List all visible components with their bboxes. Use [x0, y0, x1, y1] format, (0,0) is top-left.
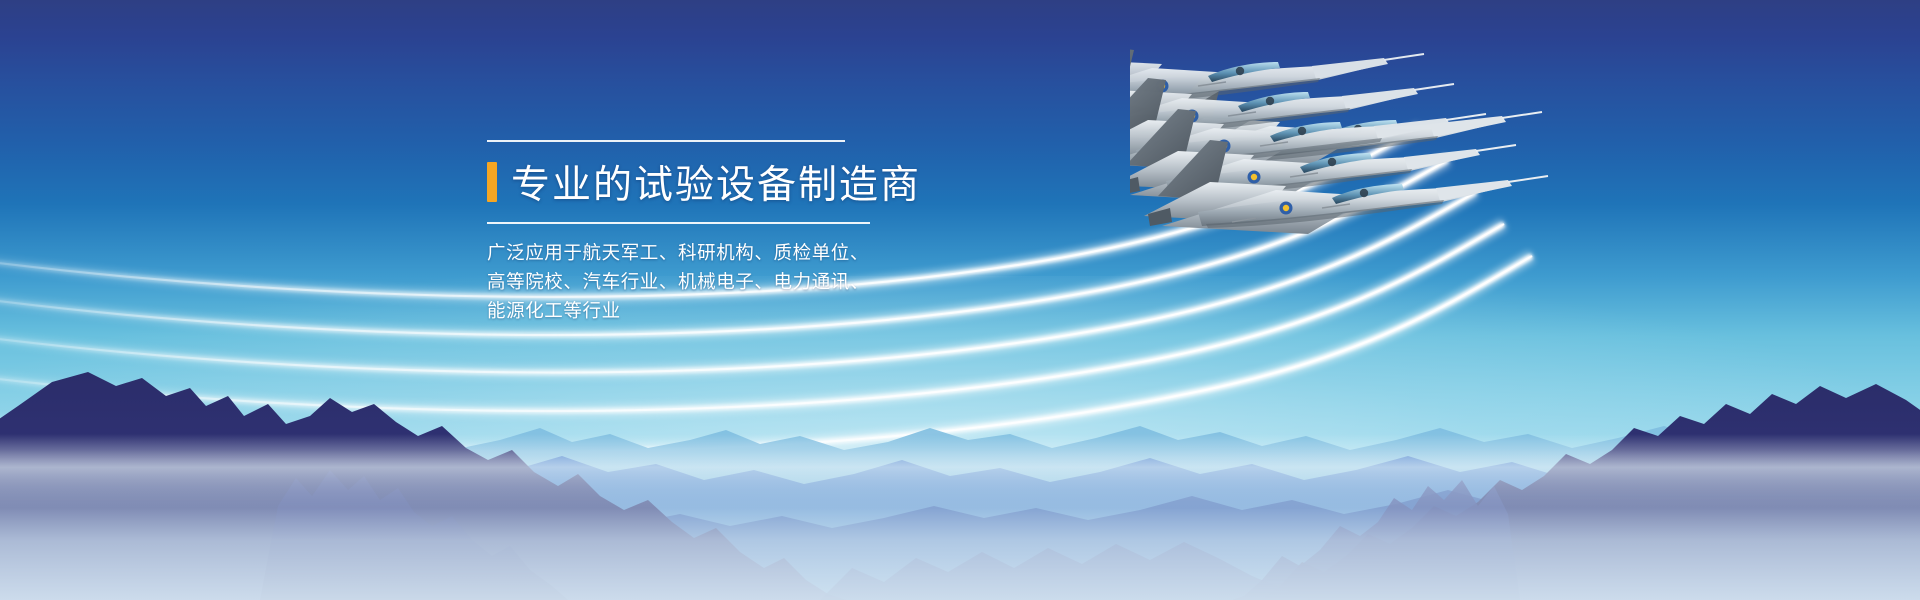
page-title: 专业的试验设备制造商 [511, 154, 921, 210]
title-row: 专业的试验设备制造商 [487, 152, 1107, 212]
subtitle-line-3: 能源化工等行业 [487, 296, 1107, 325]
fighter-jet-formation-icon [1130, 40, 1920, 290]
subtitle-line-1: 广泛应用于航天军工、科研机构、质检单位、 [487, 238, 1107, 267]
mountain-range-silhouette [0, 300, 1920, 600]
accent-bar-icon [487, 162, 497, 202]
hero-copy-block: 专业的试验设备制造商 广泛应用于航天军工、科研机构、质检单位、 高等院校、汽车行… [487, 140, 1107, 325]
title-rule-top [487, 140, 845, 142]
subtitle-line-2: 高等院校、汽车行业、机械电子、电力通讯、 [487, 267, 1107, 296]
title-rule-bottom [487, 222, 870, 224]
hero-banner: 专业的试验设备制造商 广泛应用于航天军工、科研机构、质检单位、 高等院校、汽车行… [0, 0, 1920, 600]
subtitle-block: 广泛应用于航天军工、科研机构、质检单位、 高等院校、汽车行业、机械电子、电力通讯… [487, 238, 1107, 325]
